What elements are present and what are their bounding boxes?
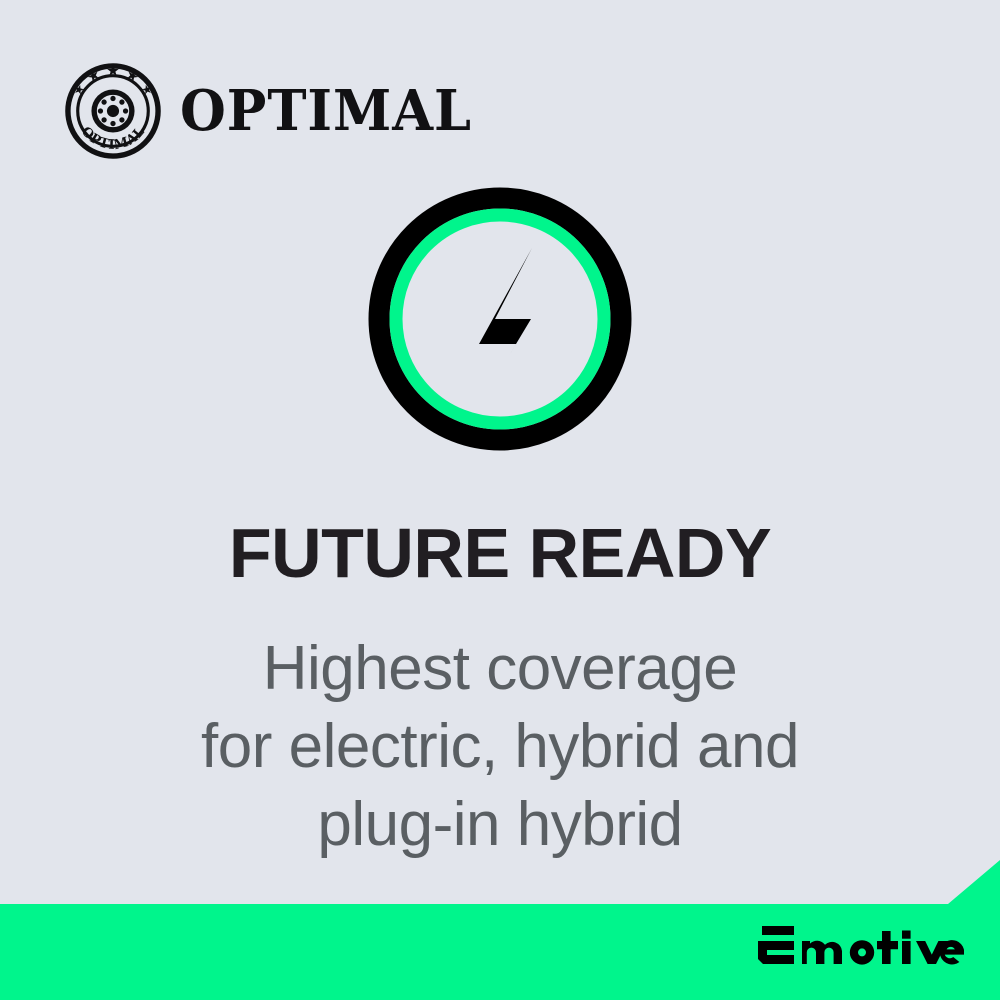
subtitle: Highest coverage for electric, hybrid an…: [0, 630, 1000, 864]
feature-icon: [365, 184, 635, 454]
subtitle-line-1: Highest coverage: [0, 630, 1000, 708]
subtitle-line-3: plug-in hybrid: [0, 786, 1000, 864]
subtitle-line-2: for electric, hybrid and: [0, 708, 1000, 786]
promo-card: OPTIMAL OPTIMAL FUTURE READY Highest cov…: [0, 0, 1000, 1000]
brand-header: OPTIMAL OPTIMAL: [64, 62, 491, 160]
page-title: FUTURE READY: [0, 518, 1000, 588]
brand-wordmark: OPTIMAL: [180, 83, 472, 139]
bottom-banner: [0, 860, 1000, 1000]
optimal-seal-badge-icon: OPTIMAL: [64, 62, 162, 160]
